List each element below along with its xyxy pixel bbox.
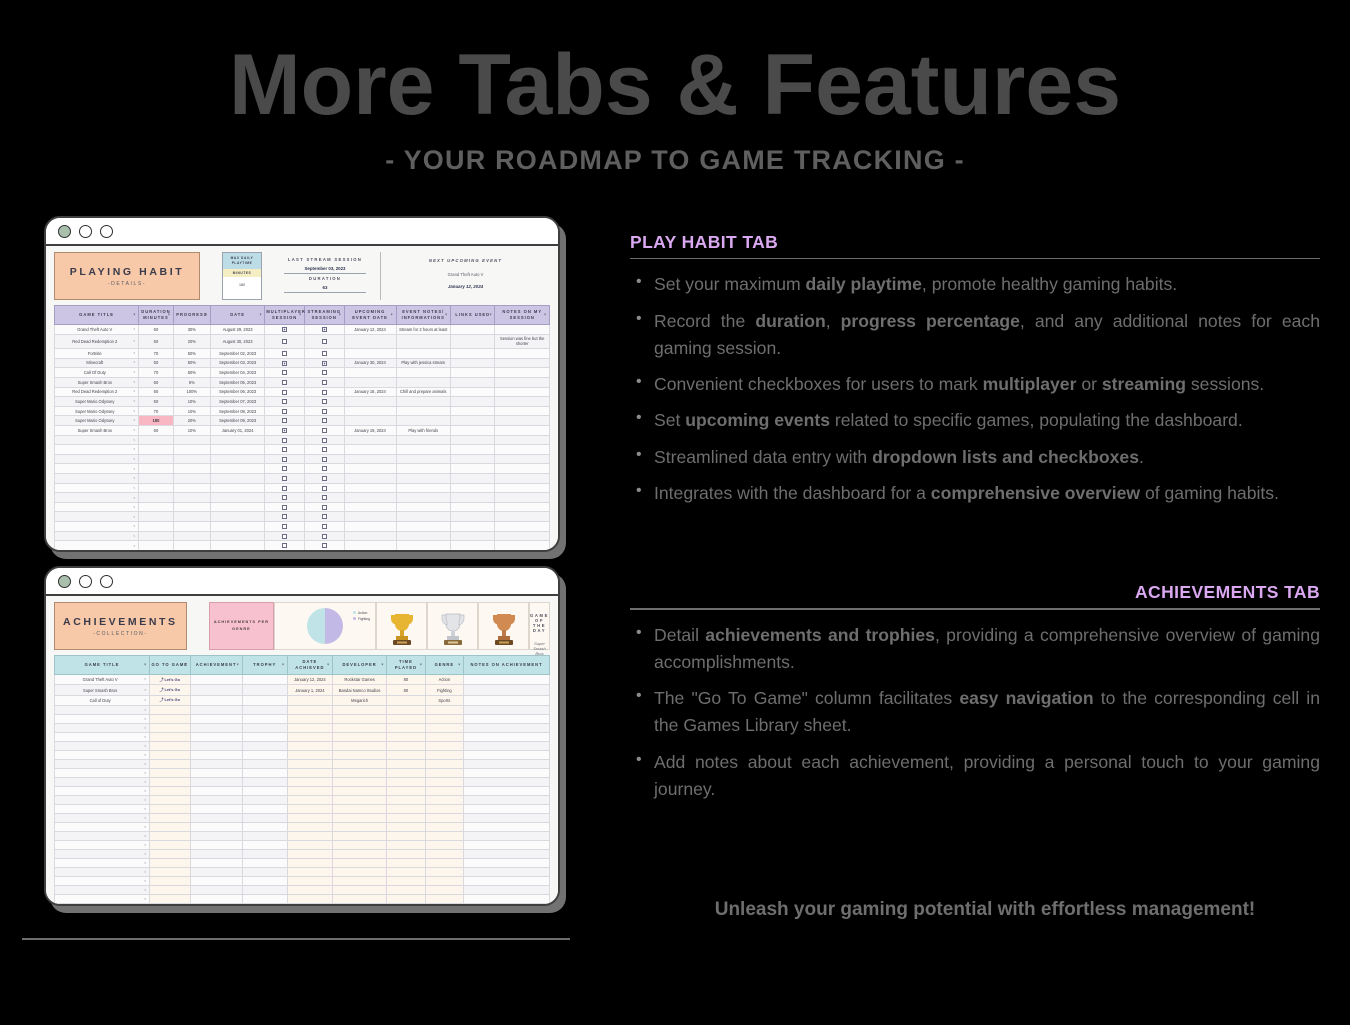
cell-duration[interactable]: 180 xyxy=(139,416,174,426)
checkbox[interactable] xyxy=(322,361,327,366)
cell-multiplayer[interactable] xyxy=(265,334,305,348)
cell-multiplayer[interactable] xyxy=(265,387,305,397)
cell-streaming[interactable] xyxy=(304,483,344,493)
cell-game-title[interactable]: ▾ xyxy=(55,474,139,484)
filter-icon[interactable]: ▾ xyxy=(299,313,302,318)
checkbox[interactable] xyxy=(322,543,327,548)
table-row[interactable]: Super Smash Bros▾⤴ Let's GoJanuary 1, 20… xyxy=(55,685,550,695)
column-header-3[interactable]: TROPHY▾ xyxy=(242,656,287,675)
cell-game-title[interactable]: ▾ xyxy=(55,786,150,795)
cell-event-date[interactable]: January 19, 2024 xyxy=(344,425,396,435)
cell-game-title[interactable]: ▾ xyxy=(55,531,139,541)
checkbox[interactable] xyxy=(282,361,287,366)
cell-duration[interactable]: 50 xyxy=(139,397,174,407)
cell-notes[interactable] xyxy=(464,675,550,685)
table-row[interactable]: Call of Duty▾⤴ Let's GoMegarichSports xyxy=(55,695,550,705)
cell-game-title[interactable]: ▾ xyxy=(55,777,150,786)
cell-game-title[interactable]: ▾ xyxy=(55,541,139,550)
table-row[interactable]: Super Mario Odyssey▾7010%September 08, 2… xyxy=(55,406,550,416)
cell-game-title[interactable]: ▾ xyxy=(55,454,139,464)
cell-links[interactable] xyxy=(450,387,495,397)
cell-time-played[interactable]: 80 xyxy=(387,685,425,695)
cell-game-title[interactable]: ▾ xyxy=(55,858,150,867)
cell-multiplayer[interactable] xyxy=(265,493,305,503)
table-row-empty[interactable]: ▾ xyxy=(55,804,550,813)
checkbox[interactable] xyxy=(322,534,327,539)
cell-trophy[interactable] xyxy=(242,675,287,685)
table-row-empty[interactable]: ▾ xyxy=(55,493,550,503)
table-row-empty[interactable]: ▾ xyxy=(55,714,550,723)
cell-game-title[interactable]: Call of Duty▾ xyxy=(55,695,150,705)
cell-time-played[interactable]: 80 xyxy=(387,675,425,685)
cell-multiplayer[interactable] xyxy=(265,464,305,474)
cell-multiplayer[interactable] xyxy=(265,325,305,335)
table-row-empty[interactable]: ▾ xyxy=(55,903,550,904)
cell-streaming[interactable] xyxy=(304,334,344,348)
cell-links[interactable] xyxy=(450,406,495,416)
table-row-empty[interactable]: ▾ xyxy=(55,876,550,885)
filter-icon[interactable]: ▾ xyxy=(420,663,423,668)
cell-event-date[interactable] xyxy=(344,416,396,426)
column-header-1[interactable]: DURATION MINUTES▾ xyxy=(139,306,174,325)
cell-streaming[interactable] xyxy=(304,358,344,368)
checkbox[interactable] xyxy=(282,534,287,539)
cell-multiplayer[interactable] xyxy=(265,445,305,455)
checkbox[interactable] xyxy=(322,476,327,481)
table-row[interactable]: Super Smash Bros▾605%September 05, 2023 xyxy=(55,377,550,387)
cell-event-date[interactable] xyxy=(344,406,396,416)
cell-game-title[interactable]: ▾ xyxy=(55,512,139,522)
table-row[interactable]: Super Mario Odyssey▾5010%September 07, 2… xyxy=(55,397,550,407)
cell-game-title[interactable]: ▾ xyxy=(55,750,150,759)
column-header-0[interactable]: GAME TITLE▾ xyxy=(55,656,150,675)
table-row-empty[interactable]: ▾ xyxy=(55,723,550,732)
cell-streaming[interactable] xyxy=(304,425,344,435)
cell-event-notes[interactable] xyxy=(396,349,450,359)
cell-game-title[interactable]: Super Smash Bros▾ xyxy=(55,377,139,387)
cell-game-title[interactable]: ▾ xyxy=(55,522,139,532)
cell-streaming[interactable] xyxy=(304,325,344,335)
checkbox[interactable] xyxy=(322,514,327,519)
table-row-empty[interactable]: ▾ xyxy=(55,445,550,455)
checkbox[interactable] xyxy=(282,370,287,375)
cell-time-played[interactable] xyxy=(387,695,425,705)
checkbox[interactable] xyxy=(322,438,327,443)
table-row-empty[interactable]: ▾ xyxy=(55,750,550,759)
cell-streaming[interactable] xyxy=(304,493,344,503)
table-row[interactable]: Grand Theft Auto V▾6030%August 29, 2023J… xyxy=(55,325,550,335)
cell-notes[interactable] xyxy=(495,387,550,397)
filter-icon[interactable]: ▾ xyxy=(185,663,188,668)
table-row-empty[interactable]: ▾ xyxy=(55,483,550,493)
checkbox[interactable] xyxy=(282,327,287,332)
checkbox[interactable] xyxy=(282,390,287,395)
table-row-empty[interactable]: ▾ xyxy=(55,849,550,858)
cell-duration[interactable]: 60 xyxy=(139,425,174,435)
table-row-empty[interactable]: ▾ xyxy=(55,885,550,894)
cell-event-date[interactable] xyxy=(344,397,396,407)
table-row[interactable]: Minecraft▾5050%September 03, 2023January… xyxy=(55,358,550,368)
cell-notes[interactable]: Session was fine but the shorter xyxy=(495,334,550,348)
cell-notes[interactable] xyxy=(495,406,550,416)
cell-multiplayer[interactable] xyxy=(265,435,305,445)
cell-trophy[interactable] xyxy=(242,685,287,695)
cell-multiplayer[interactable] xyxy=(265,425,305,435)
cell-event-date[interactable] xyxy=(344,334,396,348)
cell-progress[interactable]: 10% xyxy=(173,406,210,416)
filter-icon[interactable]: ▾ xyxy=(458,663,461,668)
column-header-8[interactable]: LINKS USED▾ xyxy=(450,306,495,325)
cell-date[interactable]: September 03, 2023 xyxy=(210,358,264,368)
column-header-7[interactable]: GENRE▾ xyxy=(425,656,463,675)
cell-notes[interactable] xyxy=(495,377,550,387)
cell-game-title[interactable]: ▾ xyxy=(55,445,139,455)
table-row-empty[interactable]: ▾ xyxy=(55,777,550,786)
cell-date[interactable]: September 05, 2023 xyxy=(210,377,264,387)
checkbox[interactable] xyxy=(322,495,327,500)
cell-game-title[interactable]: ▾ xyxy=(55,502,139,512)
checkbox[interactable] xyxy=(282,418,287,423)
checkbox[interactable] xyxy=(322,327,327,332)
cell-notes[interactable] xyxy=(464,685,550,695)
cell-date-achieved[interactable]: January 1, 2024 xyxy=(287,685,332,695)
checkbox[interactable] xyxy=(282,495,287,500)
table-row[interactable]: Super Mario Odyssey▾18020%September 09, … xyxy=(55,416,550,426)
filter-icon[interactable]: ▾ xyxy=(237,663,240,668)
cell-event-notes[interactable] xyxy=(396,397,450,407)
cell-game-title[interactable]: Red Dead Redemption 2▾ xyxy=(55,387,139,397)
cell-game-title[interactable]: Super Mario Odyssey▾ xyxy=(55,416,139,426)
cell-progress[interactable]: 20% xyxy=(173,334,210,348)
table-row-empty[interactable]: ▾ xyxy=(55,795,550,804)
cell-game-title[interactable]: Super Mario Odyssey▾ xyxy=(55,397,139,407)
cell-game-title[interactable]: ▾ xyxy=(55,822,150,831)
cell-game-title[interactable]: Super Smash Bros▾ xyxy=(55,425,139,435)
table-row-empty[interactable]: ▾ xyxy=(55,502,550,512)
minimize-dot-icon[interactable] xyxy=(79,225,92,238)
cell-notes[interactable] xyxy=(495,368,550,378)
cell-go-to-game[interactable]: ⤴ Let's Go xyxy=(149,695,190,705)
table-row-empty[interactable]: ▾ xyxy=(55,705,550,714)
cell-multiplayer[interactable] xyxy=(265,531,305,541)
cell-streaming[interactable] xyxy=(304,502,344,512)
cell-duration[interactable]: 70 xyxy=(139,406,174,416)
cell-streaming[interactable] xyxy=(304,387,344,397)
checkbox[interactable] xyxy=(322,390,327,395)
cell-game-title[interactable]: ▾ xyxy=(55,759,150,768)
table-row[interactable]: Call Of Duty▾7050%September 04, 2023 xyxy=(55,368,550,378)
table-row-empty[interactable]: ▾ xyxy=(55,474,550,484)
cell-notes[interactable] xyxy=(495,358,550,368)
table-row-empty[interactable]: ▾ xyxy=(55,512,550,522)
table-row[interactable]: Red Dead Redemption 2▾50100%September 06… xyxy=(55,387,550,397)
cell-notes[interactable] xyxy=(464,695,550,705)
table-row[interactable]: Fortnite▾7050%September 02, 2023 xyxy=(55,349,550,359)
maximize-dot-icon[interactable] xyxy=(100,575,113,588)
cell-streaming[interactable] xyxy=(304,397,344,407)
cell-event-notes[interactable]: Stream for 2 hours at least xyxy=(396,325,450,335)
cell-multiplayer[interactable] xyxy=(265,522,305,532)
checkbox[interactable] xyxy=(322,399,327,404)
filter-icon[interactable]: ▾ xyxy=(282,663,285,668)
cell-progress[interactable]: 50% xyxy=(173,349,210,359)
checkbox[interactable] xyxy=(282,476,287,481)
cell-genre[interactable]: Sports xyxy=(425,695,463,705)
cell-event-date[interactable] xyxy=(344,349,396,359)
cell-go-to-game[interactable]: ⤴ Let's Go xyxy=(149,675,190,685)
cell-notes[interactable] xyxy=(495,325,550,335)
checkbox[interactable] xyxy=(322,339,327,344)
cell-progress[interactable]: 20% xyxy=(173,416,210,426)
cell-game-title[interactable]: ▾ xyxy=(55,813,150,822)
cell-game-title[interactable]: Super Mario Odyssey▾ xyxy=(55,406,139,416)
cell-game-title[interactable]: Red Dead Redemption 2▾ xyxy=(55,334,139,348)
cell-multiplayer[interactable] xyxy=(265,358,305,368)
table-row-empty[interactable]: ▾ xyxy=(55,454,550,464)
cell-multiplayer[interactable] xyxy=(265,541,305,550)
checkbox[interactable] xyxy=(322,370,327,375)
cell-links[interactable] xyxy=(450,358,495,368)
cell-game-title[interactable]: ▾ xyxy=(55,840,150,849)
cell-event-notes[interactable] xyxy=(396,368,450,378)
cell-streaming[interactable] xyxy=(304,512,344,522)
cell-event-notes[interactable] xyxy=(396,406,450,416)
checkbox[interactable] xyxy=(322,447,327,452)
cell-streaming[interactable] xyxy=(304,368,344,378)
cell-event-notes[interactable]: Play with friends xyxy=(396,425,450,435)
cell-game-title[interactable]: ▾ xyxy=(55,714,150,723)
cell-progress[interactable]: 50% xyxy=(173,368,210,378)
cell-streaming[interactable] xyxy=(304,541,344,550)
checkbox[interactable] xyxy=(322,380,327,385)
checkbox[interactable] xyxy=(322,466,327,471)
table-row-empty[interactable]: ▾ xyxy=(55,894,550,903)
cell-progress[interactable]: 10% xyxy=(173,397,210,407)
column-header-1[interactable]: GO TO GAME▾ xyxy=(149,656,190,675)
cell-event-notes[interactable] xyxy=(396,416,450,426)
cell-multiplayer[interactable] xyxy=(265,474,305,484)
cell-developer[interactable]: Megarich xyxy=(332,695,386,705)
table-row[interactable]: Grand Theft Auto V▾⤴ Let's GoJanuary 12,… xyxy=(55,675,550,685)
cell-progress[interactable]: 50% xyxy=(173,358,210,368)
filter-icon[interactable]: ▾ xyxy=(391,313,394,318)
cell-genre[interactable]: Action xyxy=(425,675,463,685)
table-row[interactable]: Super Smash Bros▾6010%January 01, 2024Ja… xyxy=(55,425,550,435)
filter-icon[interactable]: ▾ xyxy=(205,313,208,318)
cell-game-title[interactable]: ▾ xyxy=(55,804,150,813)
cell-links[interactable] xyxy=(450,349,495,359)
cell-game-title[interactable]: Fortnite▾ xyxy=(55,349,139,359)
cell-event-date[interactable]: January 18, 2024 xyxy=(344,387,396,397)
cell-progress[interactable]: 30% xyxy=(173,325,210,335)
checkbox[interactable] xyxy=(322,409,327,414)
cell-achievement[interactable] xyxy=(190,685,242,695)
cell-game-title[interactable]: ▾ xyxy=(55,903,150,904)
cell-duration[interactable]: 50 xyxy=(139,358,174,368)
column-header-2[interactable]: ACHIEVEMENT▾ xyxy=(190,656,242,675)
filter-icon[interactable]: ▾ xyxy=(339,313,342,318)
close-dot-icon[interactable] xyxy=(58,225,71,238)
cell-date-achieved[interactable] xyxy=(287,695,332,705)
cell-event-notes[interactable] xyxy=(396,377,450,387)
cell-multiplayer[interactable] xyxy=(265,483,305,493)
table-row-empty[interactable]: ▾ xyxy=(55,858,550,867)
cell-links[interactable] xyxy=(450,416,495,426)
cell-event-notes[interactable]: Play with jessica stream xyxy=(396,358,450,368)
cell-links[interactable] xyxy=(450,368,495,378)
checkbox[interactable] xyxy=(282,466,287,471)
checkbox[interactable] xyxy=(282,339,287,344)
table-row-empty[interactable]: ▾ xyxy=(55,741,550,750)
cell-links[interactable] xyxy=(450,334,495,348)
cell-links[interactable] xyxy=(450,397,495,407)
cell-multiplayer[interactable] xyxy=(265,454,305,464)
cell-game-title[interactable]: Super Smash Bros▾ xyxy=(55,685,150,695)
cell-links[interactable] xyxy=(450,325,495,335)
cell-game-title[interactable]: ▾ xyxy=(55,464,139,474)
cell-multiplayer[interactable] xyxy=(265,406,305,416)
cell-multiplayer[interactable] xyxy=(265,502,305,512)
cell-notes[interactable] xyxy=(495,349,550,359)
checkbox[interactable] xyxy=(322,457,327,462)
table-row-empty[interactable]: ▾ xyxy=(55,822,550,831)
cell-event-date[interactable] xyxy=(344,377,396,387)
cell-date[interactable]: September 02, 2023 xyxy=(210,349,264,359)
filter-icon[interactable]: ▾ xyxy=(168,313,171,318)
cell-date[interactable]: September 09, 2023 xyxy=(210,416,264,426)
cell-date[interactable]: August 29, 2023 xyxy=(210,325,264,335)
filter-icon[interactable]: ▾ xyxy=(544,313,547,318)
column-header-0[interactable]: GAME TITLE▾ xyxy=(55,306,139,325)
cell-multiplayer[interactable] xyxy=(265,368,305,378)
cell-date[interactable]: September 04, 2023 xyxy=(210,368,264,378)
close-dot-icon[interactable] xyxy=(58,575,71,588)
cell-streaming[interactable] xyxy=(304,464,344,474)
table-row-empty[interactable]: ▾ xyxy=(55,541,550,550)
cell-streaming[interactable] xyxy=(304,445,344,455)
cell-game-title[interactable]: ▾ xyxy=(55,885,150,894)
cell-date[interactable]: September 06, 2023 xyxy=(210,387,264,397)
cell-event-date[interactable] xyxy=(344,368,396,378)
cell-date[interactable]: September 07, 2023 xyxy=(210,397,264,407)
filter-icon[interactable]: ▾ xyxy=(144,663,147,668)
cell-streaming[interactable] xyxy=(304,377,344,387)
checkbox[interactable] xyxy=(322,486,327,491)
cell-game-title[interactable]: ▾ xyxy=(55,795,150,804)
cell-event-date[interactable]: January 30, 2024 xyxy=(344,358,396,368)
cell-duration[interactable]: 60 xyxy=(139,377,174,387)
cell-multiplayer[interactable] xyxy=(265,349,305,359)
column-header-4[interactable]: DATE ACHIEVED▾ xyxy=(287,656,332,675)
cell-streaming[interactable] xyxy=(304,416,344,426)
cell-genre[interactable]: Fighting xyxy=(425,685,463,695)
checkbox[interactable] xyxy=(282,409,287,414)
maximize-dot-icon[interactable] xyxy=(100,225,113,238)
column-header-6[interactable]: TIME PLAYED▾ xyxy=(387,656,425,675)
cell-go-to-game[interactable]: ⤴ Let's Go xyxy=(149,685,190,695)
column-header-3[interactable]: DATE▾ xyxy=(210,306,264,325)
cell-trophy[interactable] xyxy=(242,695,287,705)
cell-links[interactable] xyxy=(450,425,495,435)
cell-achievement[interactable] xyxy=(190,675,242,685)
checkbox[interactable] xyxy=(282,351,287,356)
cell-developer[interactable]: Rockstar Games xyxy=(332,675,386,685)
cell-game-title[interactable]: ▾ xyxy=(55,705,150,714)
cell-streaming[interactable] xyxy=(304,454,344,464)
cell-game-title[interactable]: ▾ xyxy=(55,493,139,503)
cell-game-title[interactable]: ▾ xyxy=(55,849,150,858)
column-header-5[interactable]: STREAMING SESSION▾ xyxy=(304,306,344,325)
cell-game-title[interactable]: Minecraft▾ xyxy=(55,358,139,368)
column-header-6[interactable]: UPCOMING EVENT DATE▾ xyxy=(344,306,396,325)
cell-notes[interactable] xyxy=(495,425,550,435)
table-row-empty[interactable]: ▾ xyxy=(55,768,550,777)
cell-notes[interactable] xyxy=(495,416,550,426)
checkbox[interactable] xyxy=(282,543,287,548)
cell-multiplayer[interactable] xyxy=(265,377,305,387)
cell-date[interactable]: January 01, 2024 xyxy=(210,425,264,435)
checkbox[interactable] xyxy=(322,351,327,356)
table-row-empty[interactable]: ▾ xyxy=(55,522,550,532)
cell-multiplayer[interactable] xyxy=(265,397,305,407)
cell-duration[interactable]: 70 xyxy=(139,349,174,359)
cell-streaming[interactable] xyxy=(304,349,344,359)
cell-date-achieved[interactable]: January 12, 2024 xyxy=(287,675,332,685)
cell-game-title[interactable]: ▾ xyxy=(55,768,150,777)
cell-game-title[interactable]: ▾ xyxy=(55,435,139,445)
cell-duration[interactable]: 70 xyxy=(139,368,174,378)
cell-streaming[interactable] xyxy=(304,522,344,532)
table-row-empty[interactable]: ▾ xyxy=(55,732,550,741)
cell-date[interactable]: August 30, 2023 xyxy=(210,334,264,348)
column-header-9[interactable]: NOTES ON MY SESSION▾ xyxy=(495,306,550,325)
cell-game-title[interactable]: ▾ xyxy=(55,732,150,741)
table-row[interactable]: Red Dead Redemption 2▾5020%August 30, 20… xyxy=(55,334,550,348)
column-header-2[interactable]: PROGRESS▾ xyxy=(173,306,210,325)
checkbox[interactable] xyxy=(282,399,287,404)
checkbox[interactable] xyxy=(322,418,327,423)
cell-game-title[interactable]: ▾ xyxy=(55,741,150,750)
checkbox[interactable] xyxy=(282,486,287,491)
filter-icon[interactable]: ▾ xyxy=(382,663,385,668)
cell-event-notes[interactable]: Chill and prepare animals xyxy=(396,387,450,397)
cell-game-title[interactable]: Grand Theft Auto V▾ xyxy=(55,675,150,685)
table-row-empty[interactable]: ▾ xyxy=(55,831,550,840)
checkbox[interactable] xyxy=(282,457,287,462)
table-row-empty[interactable]: ▾ xyxy=(55,531,550,541)
checkbox[interactable] xyxy=(282,505,287,510)
table-row-empty[interactable]: ▾ xyxy=(55,867,550,876)
cell-duration[interactable]: 60 xyxy=(139,325,174,335)
table-row-empty[interactable]: ▾ xyxy=(55,813,550,822)
cell-achievement[interactable] xyxy=(190,695,242,705)
cell-progress[interactable]: 100% xyxy=(173,387,210,397)
cell-game-title[interactable]: ▾ xyxy=(55,723,150,732)
checkbox[interactable] xyxy=(282,447,287,452)
cell-duration[interactable]: 50 xyxy=(139,387,174,397)
cell-multiplayer[interactable] xyxy=(265,416,305,426)
checkbox[interactable] xyxy=(322,524,327,529)
cell-developer[interactable]: Bandai Namco Studios xyxy=(332,685,386,695)
cell-game-title[interactable]: Grand Theft Auto V▾ xyxy=(55,325,139,335)
cell-streaming[interactable] xyxy=(304,435,344,445)
cell-links[interactable] xyxy=(450,377,495,387)
checkbox[interactable] xyxy=(282,514,287,519)
cell-streaming[interactable] xyxy=(304,406,344,416)
cell-date[interactable]: September 08, 2023 xyxy=(210,406,264,416)
checkbox[interactable] xyxy=(322,428,327,433)
filter-icon[interactable]: ▾ xyxy=(445,313,448,318)
